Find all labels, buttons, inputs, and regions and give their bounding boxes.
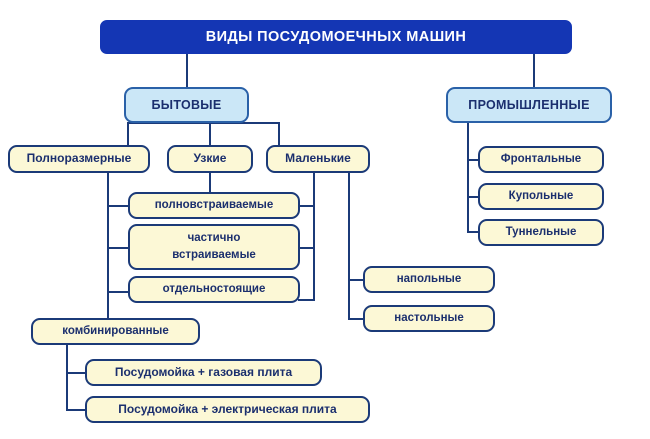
connector-small-to-fullybuiltin [298, 205, 315, 207]
connector-root-to-industrial-vertical [533, 53, 535, 87]
node-floor-standing[interactable]: напольные [363, 266, 495, 293]
node-dome[interactable]: Купольные [478, 183, 604, 210]
node-root-title[interactable]: ВИДЫ ПОСУДОМОЕЧНЫХ МАШИН [100, 20, 572, 54]
connector-combined-to-gas [66, 372, 86, 374]
connector-combined-to-electric [66, 409, 86, 411]
connector-narrow-to-middlegroup-vertical [209, 172, 211, 194]
connector-small-left-trunk-vertical [313, 172, 315, 300]
node-full-size[interactable]: Полноразмерные [8, 145, 150, 173]
node-partially-built-in-line2: встраиваемые [172, 247, 256, 264]
dishwasher-types-diagram: ВИДЫ ПОСУДОМОЕЧНЫХ МАШИН БЫТОВЫЕ ПРОМЫШЛ… [0, 0, 650, 439]
connector-fullsize-to-fullybuiltin [107, 205, 130, 207]
connector-fullsize-to-freestanding [107, 291, 130, 293]
connector-industrial-trunk-vertical [467, 122, 469, 231]
connector-domestic-to-small-vertical [278, 122, 280, 145]
node-combo-electric-stove[interactable]: Посудомойка + электрическая плита [85, 396, 370, 423]
node-industrial[interactable]: ПРОМЫШЛЕННЫЕ [446, 87, 612, 123]
connector-small-to-partially [298, 247, 315, 249]
connector-domestic-to-narrow-vertical [209, 122, 211, 145]
node-domestic[interactable]: БЫТОВЫЕ [124, 87, 249, 123]
node-combined[interactable]: комбинированные [31, 318, 200, 345]
connector-fullsize-to-partially [107, 247, 130, 249]
connector-combined-trunk-vertical [66, 343, 68, 410]
node-partially-built-in-line1: частично [188, 230, 241, 247]
node-fully-built-in[interactable]: полновстраиваемые [128, 192, 300, 219]
connector-small-right-trunk-vertical [348, 172, 350, 320]
node-table-top[interactable]: настольные [363, 305, 495, 332]
connector-small-to-freestanding [298, 299, 315, 301]
node-partially-built-in[interactable]: частично встраиваемые [128, 224, 300, 270]
node-narrow[interactable]: Узкие [167, 145, 253, 173]
node-small[interactable]: Маленькие [266, 145, 370, 173]
node-free-standing[interactable]: отдельностоящие [128, 276, 300, 303]
node-tunnel[interactable]: Туннельные [478, 219, 604, 246]
connector-domestic-to-fullsize-vertical [127, 122, 129, 145]
node-combo-gas-stove[interactable]: Посудомойка + газовая плита [85, 359, 322, 386]
connector-root-to-domestic-vertical [186, 53, 188, 87]
connector-small-to-tabletop [348, 318, 364, 320]
node-frontal[interactable]: Фронтальные [478, 146, 604, 173]
connector-small-to-floorstanding [348, 279, 364, 281]
